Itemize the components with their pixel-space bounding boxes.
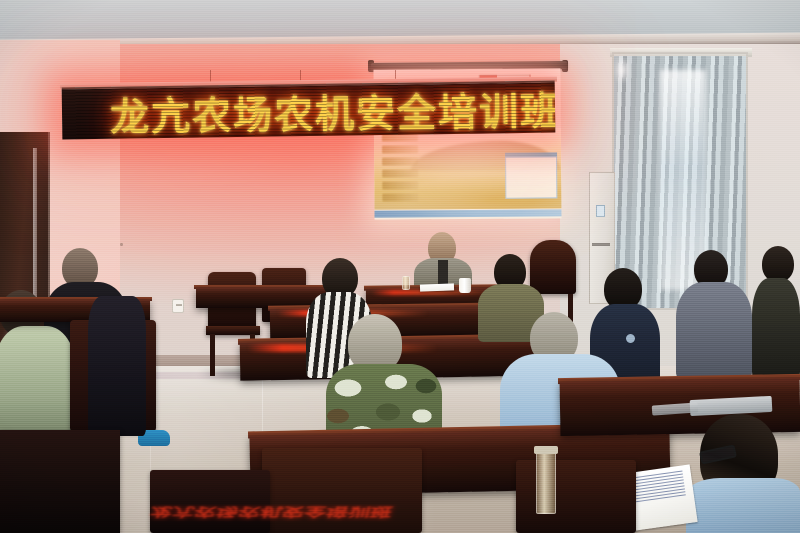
chair-front-right[interactable] <box>516 460 636 533</box>
drinking-glass <box>402 276 410 290</box>
jacket-logo <box>626 334 635 343</box>
chair-front-left[interactable] <box>150 470 270 533</box>
wall-unit-label <box>596 205 605 217</box>
photo-scene: 龙亢农场农机安全培训班 <box>0 0 800 533</box>
glass-lid <box>534 446 558 454</box>
led-banner: 龙亢农场农机安全培训班 <box>62 81 556 140</box>
slide-text-column <box>382 133 419 207</box>
head <box>762 246 794 282</box>
slide-side-panel <box>505 156 557 198</box>
torso <box>676 282 752 380</box>
wall-outlet[interactable] <box>172 299 184 313</box>
torso <box>0 326 76 446</box>
led-banner-text: 龙亢农场农机安全培训班 <box>110 83 551 140</box>
tea-cup <box>459 278 471 293</box>
led-antenna <box>210 70 211 82</box>
wall-unit-vent <box>592 243 610 246</box>
floor-led-reflection: 龙亢农场农机安全培训班 <box>148 505 412 522</box>
slide-taskbar <box>374 209 561 217</box>
window-glint <box>614 56 630 84</box>
document-paper <box>420 283 454 291</box>
torso <box>752 278 800 380</box>
chair-leg <box>210 334 215 376</box>
torso <box>686 478 800 533</box>
wall-blemish <box>120 243 123 246</box>
drinking-glass <box>536 452 556 514</box>
torso <box>88 296 146 436</box>
chair-front-far-left[interactable] <box>0 430 120 533</box>
chair-near-presenter[interactable] <box>530 240 576 294</box>
